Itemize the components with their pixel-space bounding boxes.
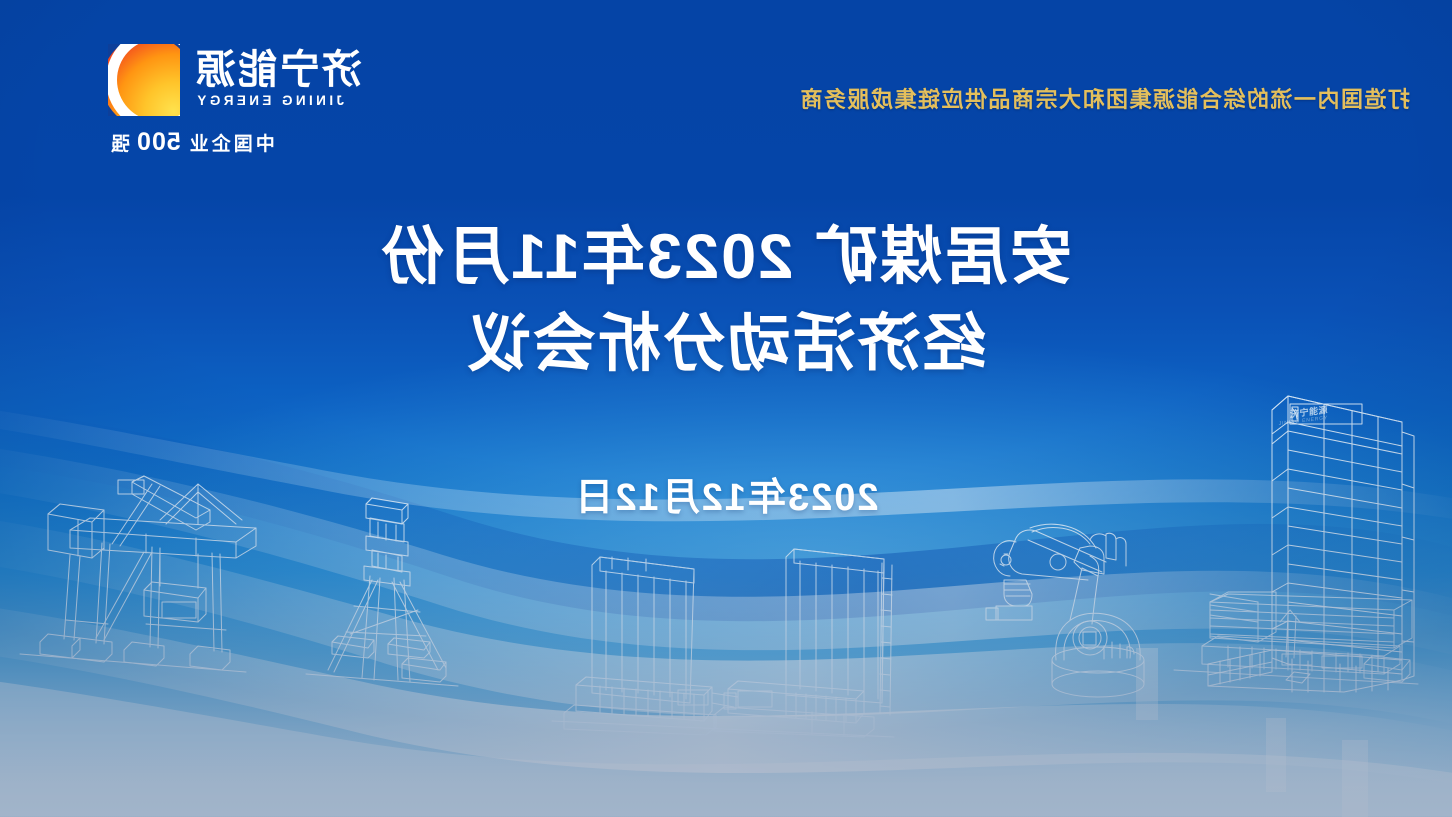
- award-badge: 中国企业 500 强: [108, 128, 275, 157]
- brand-name-cn: 济宁能源: [194, 49, 362, 91]
- award-prefix: 中国企业: [187, 129, 275, 156]
- title-line-1: 安居煤矿 2023年11月份: [0, 214, 1452, 301]
- brand-wordmark: 济宁能源 JINING ENERGY: [194, 49, 362, 111]
- poster-stage: 济宁能源 JINING ENERGY: [0, 0, 1452, 817]
- title-line-2: 经济活动分析会议: [0, 301, 1452, 388]
- sunrise-arc-logo-icon: [108, 44, 180, 116]
- brand-block: 济宁能源 JINING ENERGY 中国企业 500 强: [108, 44, 362, 157]
- award-suffix: 强: [108, 129, 130, 156]
- tagline: 打造国内一流的综合能源集团和大宗商品供应链集成服务商: [799, 82, 1410, 114]
- brand-lockup: 济宁能源 JINING ENERGY: [108, 44, 362, 116]
- brand-name-en: JINING ENERGY: [194, 91, 344, 111]
- event-date: 2023年12月12日: [0, 466, 1452, 521]
- title-block: 安居煤矿 2023年11月份 经济活动分析会议: [0, 214, 1452, 388]
- award-number: 500: [136, 128, 181, 157]
